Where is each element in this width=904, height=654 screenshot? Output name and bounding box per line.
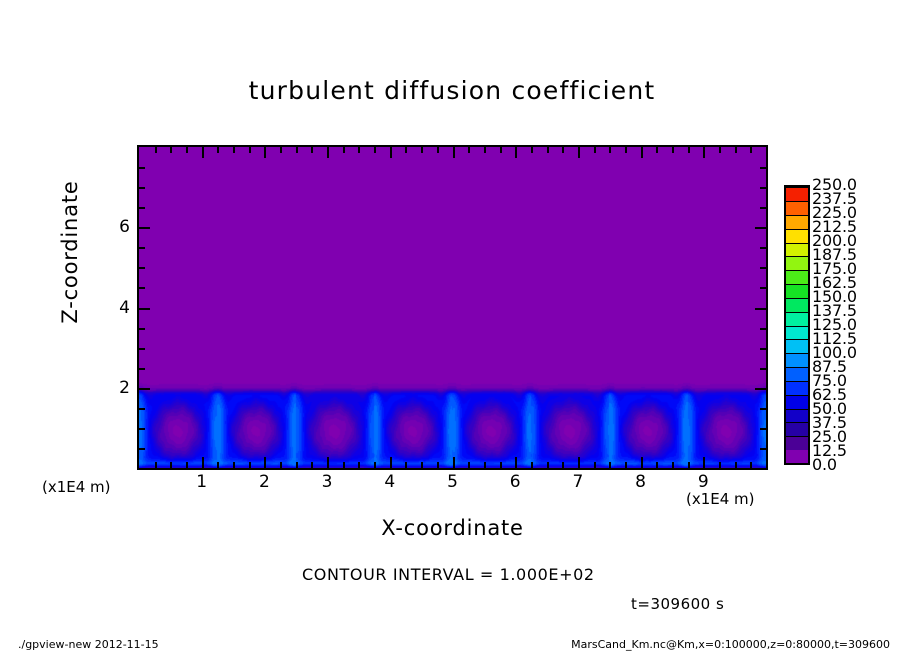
y-minor-tick <box>139 408 145 410</box>
y-minor-tick <box>139 287 145 289</box>
x-minor-tick <box>186 462 188 468</box>
x-minor-tick <box>249 462 251 468</box>
x-minor-tick <box>625 462 627 468</box>
colorbar-swatch <box>786 367 808 381</box>
x-minor-tick-top <box>547 147 549 153</box>
time-stamp-label: t=309600 s <box>631 595 724 613</box>
x-minor-tick <box>656 462 658 468</box>
x-minor-tick-top <box>155 147 157 153</box>
x-minor-tick-top <box>437 147 439 153</box>
x-minor-tick-top <box>750 147 752 153</box>
y-minor-tick-right <box>760 287 766 289</box>
x-minor-tick-top <box>186 147 188 153</box>
x-unit-label-right: (x1E4 m) <box>686 490 755 508</box>
x-major-tick-top <box>390 147 392 158</box>
footer-dataset: MarsCand_Km.nc@Km,x=0:100000,z=0:80000,t… <box>571 638 890 651</box>
y-minor-tick-right <box>760 167 766 169</box>
contour-plot-area <box>137 145 768 470</box>
y-minor-tick-right <box>760 328 766 330</box>
x-tick-label: 3 <box>307 472 347 492</box>
x-minor-tick-top <box>531 147 533 153</box>
colorbar-swatch <box>786 436 808 450</box>
colorbar-swatch <box>786 326 808 340</box>
x-major-tick-top <box>327 147 329 158</box>
y-tick-label: 6 <box>100 217 130 237</box>
x-unit-label-left: (x1E4 m) <box>42 478 111 496</box>
y-minor-tick <box>139 448 145 450</box>
x-minor-tick-top <box>233 147 235 153</box>
x-minor-tick-top <box>170 147 172 153</box>
x-major-tick-top <box>202 147 204 158</box>
colorbar-swatch <box>786 298 808 312</box>
x-major-tick-top <box>641 147 643 158</box>
x-minor-tick <box>531 462 533 468</box>
x-minor-tick <box>374 462 376 468</box>
y-major-tick-right <box>755 308 766 310</box>
x-tick-label: 8 <box>621 472 661 492</box>
x-minor-tick-top <box>343 147 345 153</box>
x-minor-tick <box>217 462 219 468</box>
x-minor-tick <box>170 462 172 468</box>
y-minor-tick-right <box>760 267 766 269</box>
x-major-tick <box>641 457 643 468</box>
x-minor-tick-top <box>311 147 313 153</box>
colorbar-swatch <box>786 243 808 257</box>
y-minor-tick-right <box>760 247 766 249</box>
x-minor-tick <box>155 462 157 468</box>
x-minor-tick-top <box>594 147 596 153</box>
x-minor-tick-top <box>688 147 690 153</box>
y-axis-title: Z-coordinate <box>58 142 82 362</box>
y-major-tick <box>139 308 150 310</box>
x-minor-tick-top <box>625 147 627 153</box>
y-minor-tick <box>139 348 145 350</box>
colorbar-swatch <box>786 229 808 243</box>
y-minor-tick <box>139 368 145 370</box>
x-tick-label: 5 <box>433 472 473 492</box>
x-minor-tick <box>358 462 360 468</box>
y-minor-tick <box>139 247 145 249</box>
x-minor-tick <box>500 462 502 468</box>
y-tick-label: 4 <box>100 298 130 318</box>
x-minor-tick-top <box>358 147 360 153</box>
x-minor-tick <box>735 462 737 468</box>
x-minor-tick-top <box>421 147 423 153</box>
x-minor-tick <box>609 462 611 468</box>
x-minor-tick-top <box>249 147 251 153</box>
colorbar-swatch <box>786 395 808 409</box>
y-minor-tick <box>139 428 145 430</box>
y-minor-tick <box>139 187 145 189</box>
x-tick-label: 2 <box>244 472 284 492</box>
x-minor-tick-top <box>296 147 298 153</box>
colorbar-swatch <box>786 187 808 201</box>
y-tick-label: 2 <box>100 378 130 398</box>
x-minor-tick-top <box>484 147 486 153</box>
colorbar-swatch <box>786 339 808 353</box>
y-minor-tick <box>139 207 145 209</box>
y-minor-tick-right <box>760 187 766 189</box>
x-minor-tick-top <box>735 147 737 153</box>
x-minor-tick <box>437 462 439 468</box>
x-minor-tick-top <box>719 147 721 153</box>
x-minor-tick <box>594 462 596 468</box>
colorbar-swatch <box>786 409 808 423</box>
colorbar <box>784 185 810 465</box>
y-minor-tick-right <box>760 448 766 450</box>
colorbar-swatch <box>786 312 808 326</box>
x-tick-label: 7 <box>558 472 598 492</box>
colorbar-swatch <box>786 270 808 284</box>
y-major-tick-right <box>755 388 766 390</box>
x-major-tick <box>202 457 204 468</box>
y-minor-tick <box>139 267 145 269</box>
x-axis-title: X-coordinate <box>137 516 768 540</box>
page-title: turbulent diffusion coefficient <box>0 76 904 105</box>
y-major-tick <box>139 227 150 229</box>
colorbar-swatch <box>786 353 808 367</box>
x-minor-tick <box>296 462 298 468</box>
x-minor-tick <box>343 462 345 468</box>
x-minor-tick-top <box>562 147 564 153</box>
x-major-tick-top <box>264 147 266 158</box>
x-major-tick <box>390 457 392 468</box>
y-major-tick-right <box>755 227 766 229</box>
contour-interval-label: CONTOUR INTERVAL = 1.000E+02 <box>302 565 595 584</box>
x-minor-tick <box>484 462 486 468</box>
x-major-tick <box>703 457 705 468</box>
footer-command: ./gpview-new 2012-11-15 <box>18 638 159 651</box>
colorbar-swatch <box>786 381 808 395</box>
x-major-tick-top <box>578 147 580 158</box>
x-tick-label: 1 <box>182 472 222 492</box>
colorbar-swatch <box>786 422 808 436</box>
x-minor-tick-top <box>405 147 407 153</box>
x-minor-tick <box>280 462 282 468</box>
x-minor-tick-top <box>672 147 674 153</box>
y-minor-tick-right <box>760 348 766 350</box>
x-minor-tick <box>562 462 564 468</box>
colorbar-tick-label: 250.0 <box>812 177 857 193</box>
x-minor-tick-top <box>609 147 611 153</box>
x-minor-tick <box>421 462 423 468</box>
x-minor-tick-top <box>374 147 376 153</box>
y-minor-tick <box>139 167 145 169</box>
colorbar-swatch <box>786 450 808 463</box>
x-major-tick <box>515 457 517 468</box>
y-minor-tick-right <box>760 207 766 209</box>
x-minor-tick <box>719 462 721 468</box>
x-minor-tick <box>405 462 407 468</box>
y-minor-tick-right <box>760 428 766 430</box>
x-major-tick <box>453 457 455 468</box>
x-major-tick-top <box>515 147 517 158</box>
x-minor-tick <box>688 462 690 468</box>
colorbar-swatch <box>786 215 808 229</box>
colorbar-swatch <box>786 256 808 270</box>
colorbar-swatch <box>786 284 808 298</box>
x-minor-tick-top <box>468 147 470 153</box>
colorbar-swatch <box>786 201 808 215</box>
y-minor-tick <box>139 328 145 330</box>
x-minor-tick-top <box>280 147 282 153</box>
x-minor-tick-top <box>656 147 658 153</box>
colorbar-tick-labels: 0.012.525.037.550.062.575.087.5100.0112.… <box>812 185 882 465</box>
x-major-tick <box>578 457 580 468</box>
x-tick-label: 9 <box>683 472 723 492</box>
x-minor-tick <box>311 462 313 468</box>
x-major-tick-top <box>453 147 455 158</box>
y-minor-tick-right <box>760 408 766 410</box>
y-minor-tick-right <box>760 368 766 370</box>
x-minor-tick <box>750 462 752 468</box>
diffusion-field-raster <box>139 147 766 468</box>
y-major-tick <box>139 388 150 390</box>
x-minor-tick <box>468 462 470 468</box>
x-major-tick-top <box>703 147 705 158</box>
x-tick-label: 4 <box>370 472 410 492</box>
x-minor-tick <box>547 462 549 468</box>
x-minor-tick-top <box>217 147 219 153</box>
x-tick-label: 6 <box>495 472 535 492</box>
x-minor-tick <box>233 462 235 468</box>
x-major-tick <box>264 457 266 468</box>
x-minor-tick-top <box>500 147 502 153</box>
x-major-tick <box>327 457 329 468</box>
x-minor-tick <box>672 462 674 468</box>
